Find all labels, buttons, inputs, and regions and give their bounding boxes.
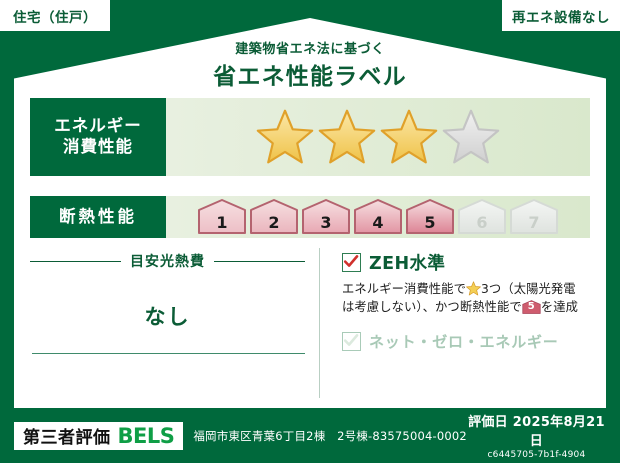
certification-section: ZEH水準 エネルギー消費性能で 3つ（太陽光発電 は考慮しない）、かつ断熱性能… xyxy=(320,248,590,398)
house-icon-empty: 6 xyxy=(457,199,507,235)
utility-cost-value: なし xyxy=(30,301,319,331)
house-icon-filled: 4 xyxy=(353,199,403,235)
zeh-description: エネルギー消費性能で 3つ（太陽光発電 は考慮しない）、かつ断熱性能で 5 を達… xyxy=(342,280,590,317)
heading-rule-right xyxy=(214,261,305,262)
net-zero-energy-checkbox xyxy=(342,332,361,351)
bels-logo: BELS xyxy=(118,424,175,448)
property-address: 福岡市東区青葉6丁目2棟 2号棟-83575004-0002 xyxy=(193,428,467,444)
star-icon-filled xyxy=(317,108,377,166)
label-subtitle: 建築物省エネ法に基づく xyxy=(0,38,620,57)
row-energy-value xyxy=(166,98,590,176)
star-icon-filled xyxy=(379,108,439,166)
row-insulation-value: 1234567 xyxy=(166,196,590,238)
bels-chip: 第三者評価 BELS xyxy=(14,422,183,450)
zeh-desc-part4: を達成 xyxy=(541,300,578,314)
zeh-desc-part3: は考慮しない）、かつ断熱性能で xyxy=(342,300,522,314)
house-icon-filled: 3 xyxy=(301,199,351,235)
utility-cost-section: 目安光熱費 なし xyxy=(30,248,320,398)
row-energy-label-line2: 消費性能 xyxy=(63,137,133,158)
row-energy-performance: エネルギー 消費性能 xyxy=(30,98,590,176)
evaluation-meta: 評価日 2025年8月21日 c6445705-7b1f-4904 xyxy=(467,411,606,460)
badge-housing-type: 住宅（住戸） xyxy=(0,0,110,31)
row-energy-label: エネルギー 消費性能 xyxy=(30,98,166,176)
evaluation-date: 評価日 2025年8月21日 xyxy=(467,411,606,449)
star-rating xyxy=(255,108,501,166)
net-zero-energy-row: ネット・ゼロ・エネルギー xyxy=(342,331,590,352)
utility-cost-heading-text: 目安光熱費 xyxy=(130,251,205,271)
third-party-evaluation-label: 第三者評価 xyxy=(23,423,111,448)
house-icon-empty: 7 xyxy=(509,199,559,235)
zeh-desc-part1: エネルギー消費性能で xyxy=(342,282,466,296)
zeh-checkbox xyxy=(342,253,361,272)
zeh-standard-row: ZEH水準 xyxy=(342,250,590,275)
lower-section: 目安光熱費 なし ZEH水準 エネルギー消費性能で xyxy=(30,248,590,398)
house-icon-badge: 5 xyxy=(522,299,541,315)
row-insulation-performance: 断熱性能 1234567 xyxy=(30,196,590,238)
house-icon-filled: 1 xyxy=(197,199,247,235)
house-icon-filled: 2 xyxy=(249,199,299,235)
net-zero-energy-label: ネット・ゼロ・エネルギー xyxy=(369,331,559,352)
heading-rule-left xyxy=(30,261,121,262)
utility-cost-heading: 目安光熱費 xyxy=(30,251,319,271)
energy-performance-label: 住宅（住戸） 再エネ設備なし 建築物省エネ法に基づく 省エネ性能ラベル エネルギ… xyxy=(0,0,620,463)
footer: 第三者評価 BELS 福岡市東区青葉6丁目2棟 2号棟-83575004-000… xyxy=(0,408,620,463)
evaluation-id: c6445705-7b1f-4904 xyxy=(467,450,606,460)
badge-renewable-equipment: 再エネ設備なし xyxy=(502,0,620,31)
zeh-desc-part2: 3つ（太陽光発電 xyxy=(481,282,576,296)
star-icon xyxy=(466,281,481,296)
page-title: 省エネ性能ラベル xyxy=(0,57,620,91)
zeh-standard-label: ZEH水準 xyxy=(369,250,445,275)
house-icon-filled: 5 xyxy=(405,199,455,235)
star-icon-empty xyxy=(441,108,501,166)
insulation-grade-scale: 1234567 xyxy=(197,199,559,235)
utility-cost-underline xyxy=(32,353,305,354)
row-energy-label-line1: エネルギー xyxy=(54,116,142,137)
row-insulation-label: 断熱性能 xyxy=(30,196,166,238)
star-icon-filled xyxy=(255,108,315,166)
